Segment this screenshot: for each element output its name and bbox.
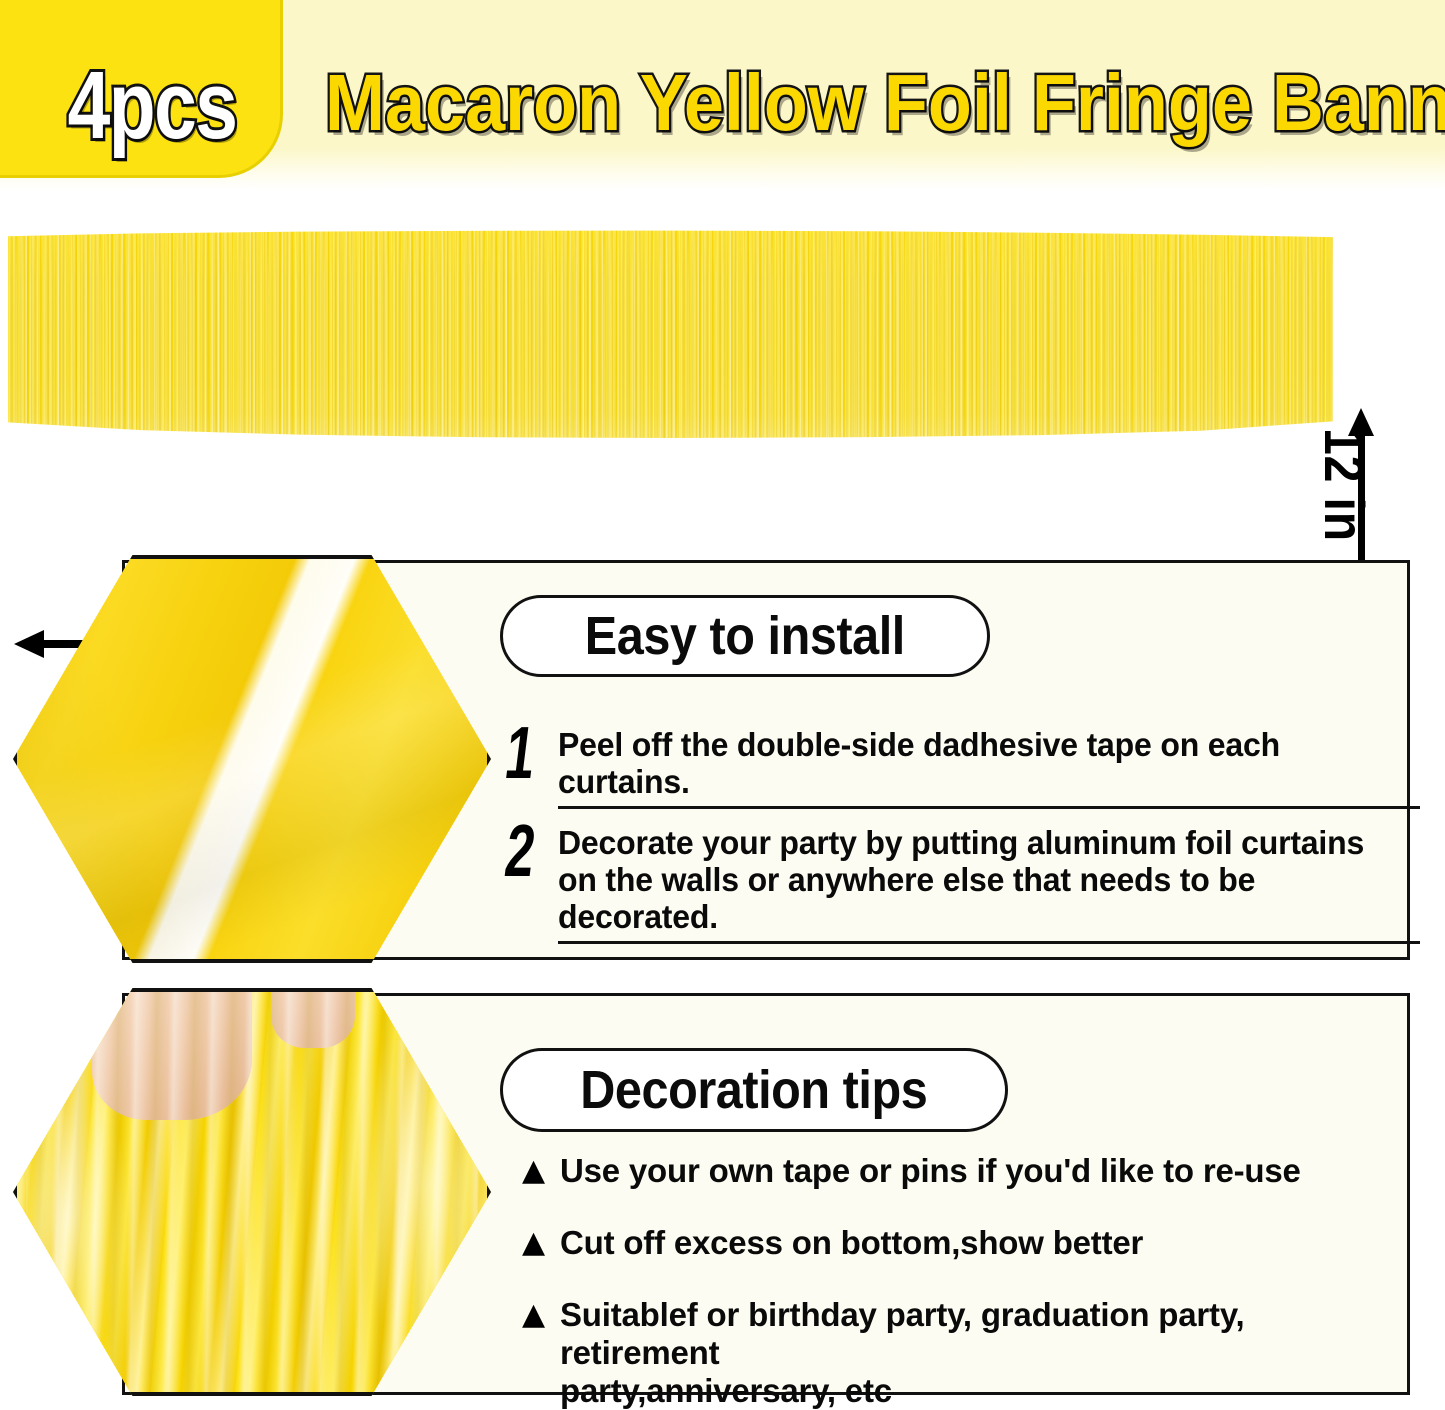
install-step-1: 1 Peel off the double-side dadhesive tap… bbox=[510, 726, 1390, 809]
fringe-banner-image bbox=[8, 230, 1333, 438]
install-step-1-divider bbox=[558, 806, 1420, 809]
fringe-highlight-left bbox=[26, 1064, 129, 1368]
triangle-bullet-icon: ▲ bbox=[522, 1296, 560, 1334]
height-dimension-label: 12 in bbox=[1316, 428, 1372, 542]
page-title: Macaron Yellow Foil Fringe Banner bbox=[325, 62, 1445, 144]
header-banner: 4pcs Macaron Yellow Foil Fringe Banner bbox=[0, 0, 1445, 190]
tips-bullet-2: ▲ Cut off excess on bottom,show better bbox=[522, 1224, 1402, 1262]
tips-bullet-1-text: Use your own tape or pins if you'd like … bbox=[560, 1152, 1301, 1190]
install-title-label: Easy to install bbox=[585, 609, 905, 663]
triangle-bullet-icon: ▲ bbox=[522, 1152, 560, 1190]
install-step-2-text: Decorate your party by putting aluminum … bbox=[558, 824, 1394, 935]
product-hero: 12 in 10 ft bbox=[0, 190, 1445, 540]
fringe-strands-texture bbox=[8, 230, 1333, 438]
install-step-1-body: Peel off the double-side dadhesive tape … bbox=[558, 726, 1420, 809]
tips-title-pill: Decoration tips bbox=[500, 1048, 1008, 1132]
install-title-pill: Easy to install bbox=[500, 595, 990, 677]
tips-title-label: Decoration tips bbox=[580, 1063, 927, 1117]
install-step-2-body: Decorate your party by putting aluminum … bbox=[558, 824, 1420, 944]
install-step-2: 2 Decorate your party by putting aluminu… bbox=[510, 824, 1390, 944]
tips-bullet-3-text: Suitablef or birthday party, graduation … bbox=[560, 1296, 1402, 1410]
tips-bullet-3: ▲ Suitablef or birthday party, graduatio… bbox=[522, 1296, 1402, 1410]
triangle-bullet-icon: ▲ bbox=[522, 1224, 560, 1262]
install-step-2-number: 2 bbox=[502, 818, 541, 884]
tips-bullet-2-text: Cut off excess on bottom,show better bbox=[560, 1224, 1143, 1262]
quantity-badge-label: 4pcs bbox=[48, 58, 256, 154]
install-step-1-text: Peel off the double-side dadhesive tape … bbox=[558, 726, 1394, 800]
tips-bullet-1: ▲ Use your own tape or pins if you'd lik… bbox=[522, 1152, 1402, 1190]
install-step-1-number: 1 bbox=[502, 720, 541, 786]
install-step-2-divider bbox=[558, 941, 1420, 944]
